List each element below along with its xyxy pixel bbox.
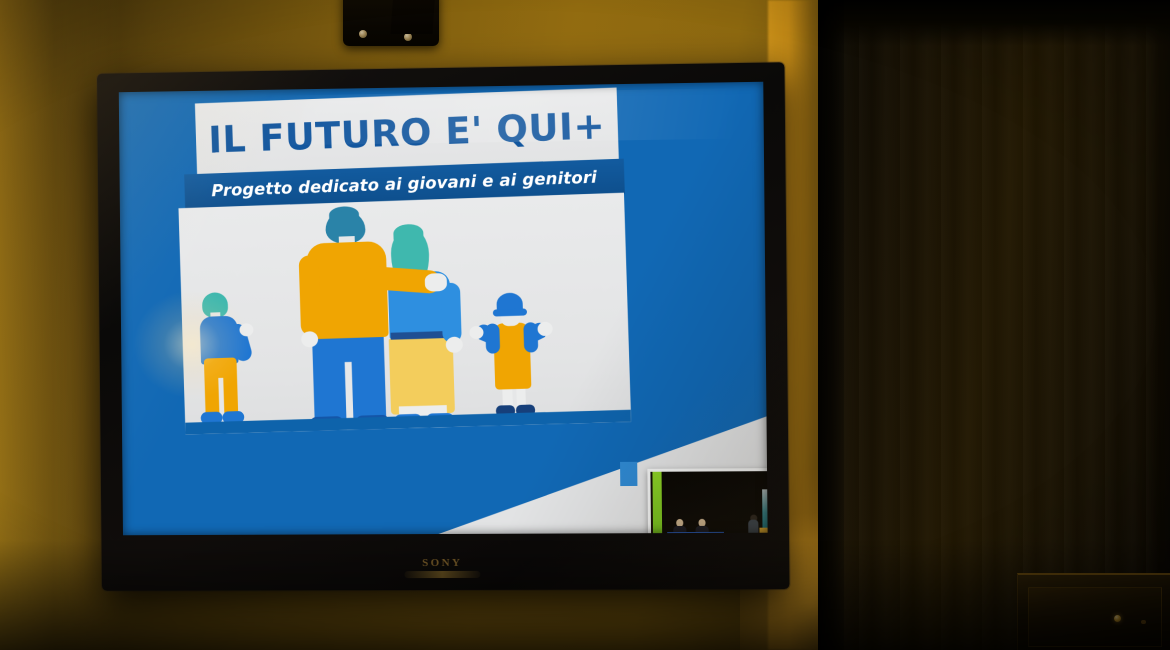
mount-screw-icon (404, 33, 412, 41)
tv-mount-arm (390, 0, 435, 34)
television[interactable]: IL FUTURO E' QUI+ Progetto dedicato ai g… (97, 62, 790, 591)
slide-accent-square (620, 462, 637, 486)
adult-father-arm-left (299, 255, 321, 335)
pip-green-stripe (652, 472, 662, 536)
presentation-slide: IL FUTURO E' QUI+ Progetto dedicato ai g… (119, 82, 768, 536)
child-girl-hat-brim (493, 308, 527, 316)
adult-mother-hand-right (446, 337, 463, 354)
adult-father-hand-right (425, 273, 448, 292)
picture-in-picture-inset[interactable] (647, 468, 767, 535)
mount-screw-icon (359, 30, 367, 38)
floor-shadow (0, 540, 1170, 650)
child-boy-hand (239, 323, 253, 336)
room-scene: IL FUTURO E' QUI+ Progetto dedicato ai g… (0, 0, 1170, 650)
slide-illustration-panel (178, 193, 631, 435)
child-girl-hand-right (537, 322, 553, 337)
curtain-top-fold (818, 0, 1170, 46)
adult-mother-skirt (389, 337, 455, 415)
pip-video-feed (650, 471, 767, 535)
tv-screen[interactable]: IL FUTURO E' QUI+ Progetto dedicato ai g… (119, 82, 768, 536)
adult-mother-arm-right (441, 283, 462, 344)
